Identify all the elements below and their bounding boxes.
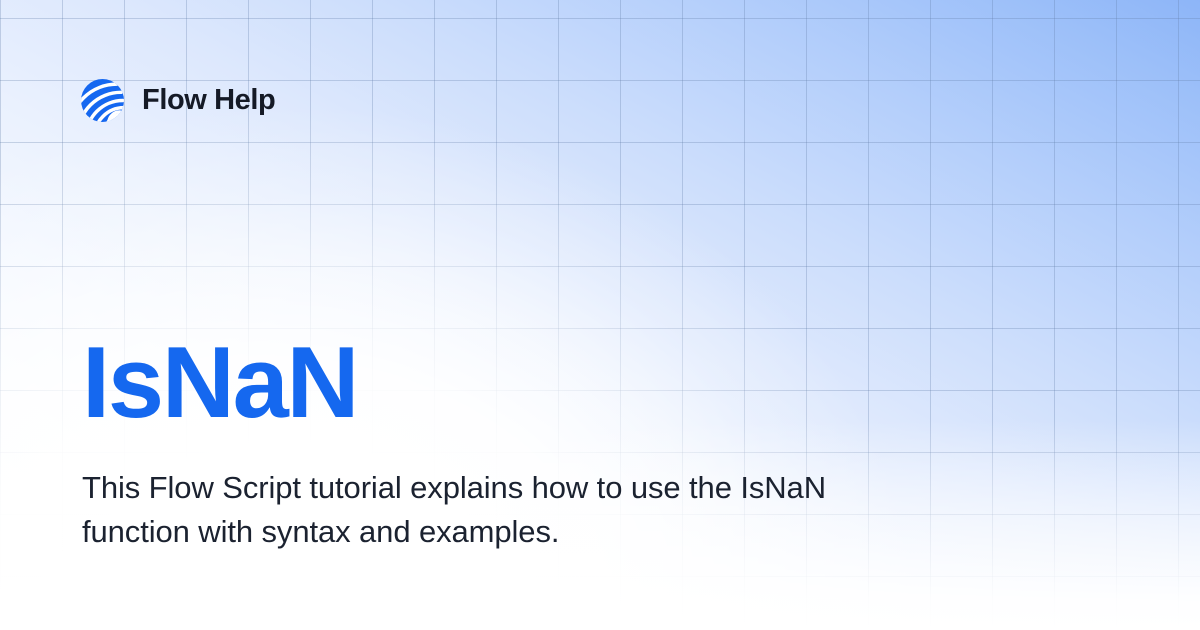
brand-lockup[interactable]: Flow Help <box>80 78 275 123</box>
og-card: Flow Help IsNaN This Flow Script tutoria… <box>0 0 1200 630</box>
flow-globe-logo-icon <box>80 78 125 123</box>
page-description: This Flow Script tutorial explains how t… <box>82 466 902 554</box>
brand-name: Flow Help <box>142 86 275 115</box>
page-title: IsNaN <box>82 333 357 434</box>
card-content: Flow Help IsNaN This Flow Script tutoria… <box>0 0 1200 630</box>
